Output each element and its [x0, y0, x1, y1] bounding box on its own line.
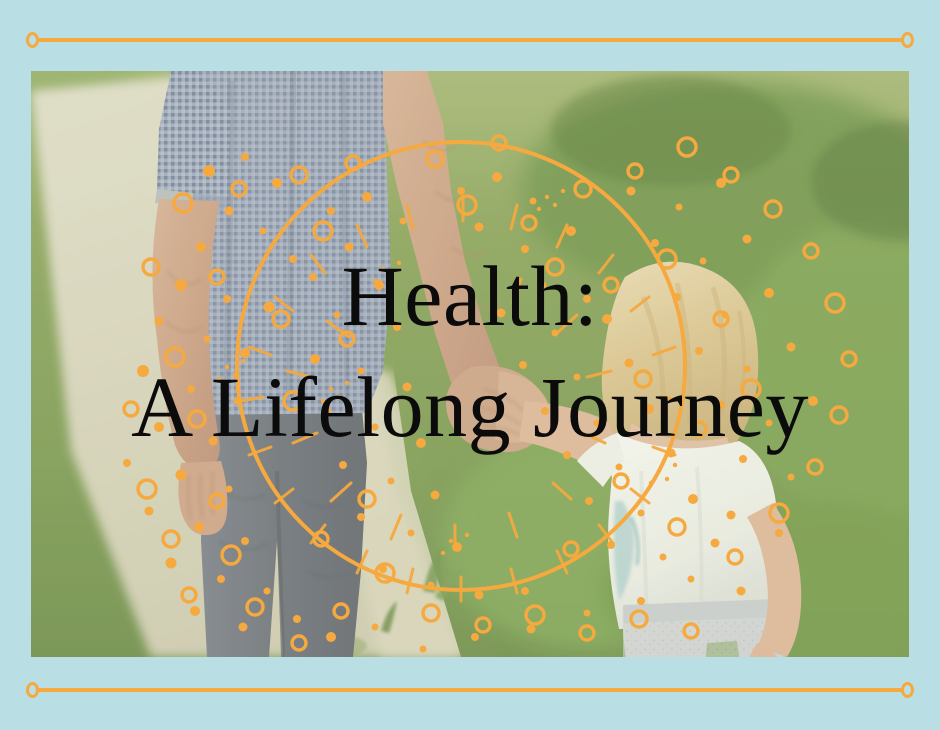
divider-ring-right-icon — [901, 682, 914, 698]
divider-ring-right-icon — [901, 32, 914, 48]
top-divider — [26, 32, 914, 48]
hero-photo — [31, 71, 909, 657]
divider-bar — [37, 38, 903, 42]
bottom-divider — [26, 682, 914, 698]
poster-canvas: Health: A Lifelong Journey — [0, 0, 940, 730]
divider-bar — [37, 688, 903, 692]
